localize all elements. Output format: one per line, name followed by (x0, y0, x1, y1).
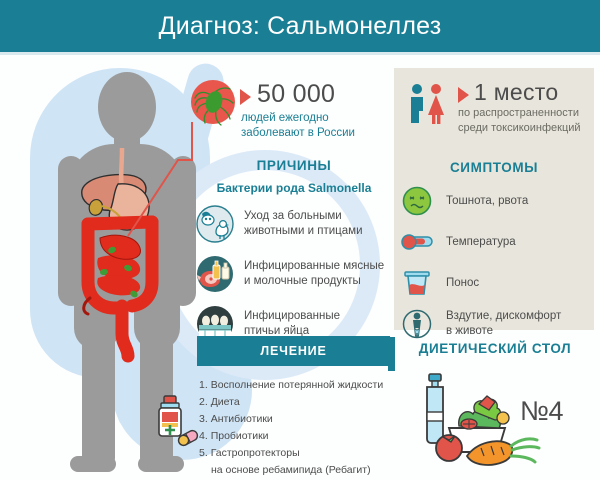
treatment-text-5: Гастропротекторы (211, 447, 300, 459)
bloated-abdomen-icon (402, 309, 432, 339)
symptoms-list: Тошнота, рвота Температура (400, 185, 588, 340)
treatment-text-5-cont: на основе ребамипида (Ребагит) (199, 462, 409, 479)
cause-text-1a: Уход за больными (244, 209, 363, 224)
treatment-num-2: 2. (199, 396, 208, 408)
medicine-bottle-and-pills-icon (150, 392, 202, 448)
symptoms-section: СИМПТОМЫ Тошнота, рвота (400, 160, 588, 349)
cause-text-1b: животными и птицами (244, 224, 363, 239)
symptom-text-2: Температура (446, 235, 516, 250)
cause-item-meat-dairy: Инфицированные мясные и молочные продукт… (196, 255, 392, 293)
symptom-item-nausea: Тошнота, рвота (400, 185, 588, 217)
treatment-item-5: 5. Гастропротекторы на основе ребамипида… (199, 445, 409, 479)
cause-text-2b: и молочные продукты (244, 274, 384, 289)
treatment-title: ЛЕЧЕНИЕ (260, 344, 326, 358)
treatment-item-4: 4. Пробиотики (199, 428, 409, 445)
symptom-text-4b: в животе (446, 324, 561, 339)
stat-prevalence-caption-1: по распространенности (458, 106, 581, 121)
nauseated-face-icon (402, 186, 432, 216)
red-triangle-icon (458, 87, 469, 103)
cause-item-animals: Уход за больными животными и птицами (196, 205, 392, 243)
symptom-item-fever: Температура (400, 226, 588, 258)
treatment-num-1: 1. (199, 379, 208, 391)
causes-section: ПРИЧИНЫ Бактерии рода Salmonella Уход за… (196, 158, 392, 355)
diet-title: ДИЕТИЧЕСКИЙ СТОЛ (400, 341, 590, 356)
stat-prevalence-rank: 1 место по распространенности среди токс… (406, 80, 590, 135)
man-woman-figures-icon (406, 81, 450, 125)
symptoms-title: СИМПТОМЫ (400, 160, 588, 175)
symptom-text-3: Понос (446, 276, 479, 291)
causes-title: ПРИЧИНЫ (196, 158, 392, 173)
stat-prevalence-caption-2: среди токсикоинфекций (458, 121, 581, 136)
treatment-list: 1. Восполнение потерянной жидкости 2. Ди… (199, 377, 409, 479)
infographic-root: Диагноз: Сальмонеллез (0, 0, 600, 480)
treatment-text-2: Диета (211, 396, 240, 408)
causes-subtitle: Бактерии рода Salmonella (196, 181, 392, 195)
treatment-num-5: 5. (199, 447, 208, 459)
treatment-item-3: 3. Антибиотики (199, 411, 409, 428)
salmonella-bacterium-icon (187, 78, 239, 130)
treatment-text-3: Антибиотики (211, 413, 273, 425)
stat-prevalence-rank-number: 1 место (474, 81, 558, 104)
treatment-item-1: 1. Восполнение потерянной жидкости (199, 377, 409, 394)
causes-list: Уход за больными животными и птицами (196, 205, 392, 343)
meat-and-dairy-icon (196, 255, 234, 293)
treatment-num-4: 4. (199, 430, 208, 442)
cause-text-2a: Инфицированные мясные (244, 259, 384, 274)
cup-diarrhea-icon (403, 268, 431, 298)
cause-text-3a: Инфицированные (244, 309, 340, 324)
stat-annual-cases-caption-2: заболевают в России (241, 126, 390, 141)
red-triangle-icon (240, 89, 251, 105)
symptom-item-bloating: Вздутие, дискомфорт в животе (400, 308, 588, 340)
cow-and-bird-icon (196, 205, 234, 243)
symptom-text-4a: Вздутие, дискомфорт (446, 309, 561, 324)
treatment-text-1: Восполнение потерянной жидкости (211, 379, 384, 391)
treatment-item-2: 2. Диета (199, 394, 409, 411)
stat-annual-cases-caption-1: людей ежегодно (241, 111, 390, 126)
diet-accent-strip (388, 337, 395, 371)
diet-number: №4 (520, 396, 563, 427)
stat-annual-cases-number: 50 000 (257, 82, 335, 107)
treatment-header: ЛЕЧЕНИЕ (197, 336, 390, 366)
symptom-text-1: Тошнота, рвота (446, 194, 528, 209)
thermometer-icon (401, 233, 433, 251)
symptom-item-diarrhea: Понос (400, 267, 588, 299)
treatment-text-4: Пробиотики (211, 430, 269, 442)
stat-annual-cases: 50 000 людей ежегодно заболевают в Росси… (240, 82, 390, 142)
treatment-num-3: 3. (199, 413, 208, 425)
